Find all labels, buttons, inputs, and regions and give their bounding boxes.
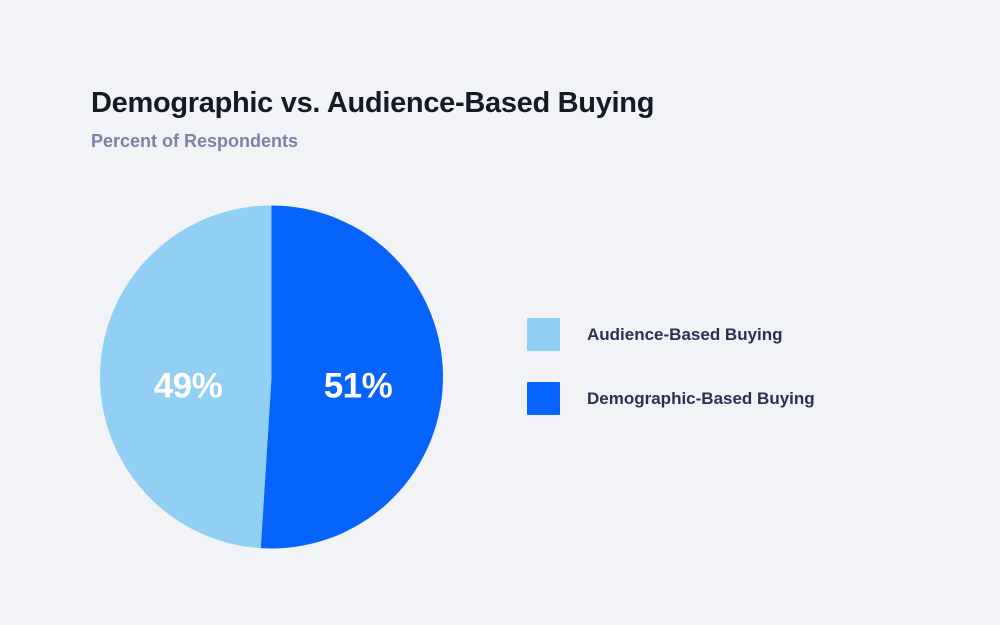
chart-header: Demographic vs. Audience-Based Buying Pe… — [91, 86, 911, 153]
chart-legend: Audience-Based Buying Demographic-Based … — [527, 318, 815, 415]
legend-swatch-demographic-based — [527, 382, 560, 415]
pie-chart: 51% 49% — [90, 195, 454, 559]
chart-subtitle: Percent of Respondents — [91, 120, 911, 153]
pie-chart-svg: 51% 49% — [90, 195, 454, 559]
pie-slice-label-audience-based: 49% — [154, 366, 223, 405]
legend-label-audience-based: Audience-Based Buying — [587, 326, 783, 343]
legend-item-audience-based[interactable]: Audience-Based Buying — [527, 318, 815, 351]
chart-card: Demographic vs. Audience-Based Buying Pe… — [0, 0, 1000, 625]
legend-swatch-audience-based — [527, 318, 560, 351]
legend-item-demographic-based[interactable]: Demographic-Based Buying — [527, 382, 815, 415]
pie-slice-label-demographic-based: 51% — [324, 366, 393, 405]
page-title: Demographic vs. Audience-Based Buying — [91, 86, 911, 120]
legend-label-demographic-based: Demographic-Based Buying — [587, 390, 815, 407]
